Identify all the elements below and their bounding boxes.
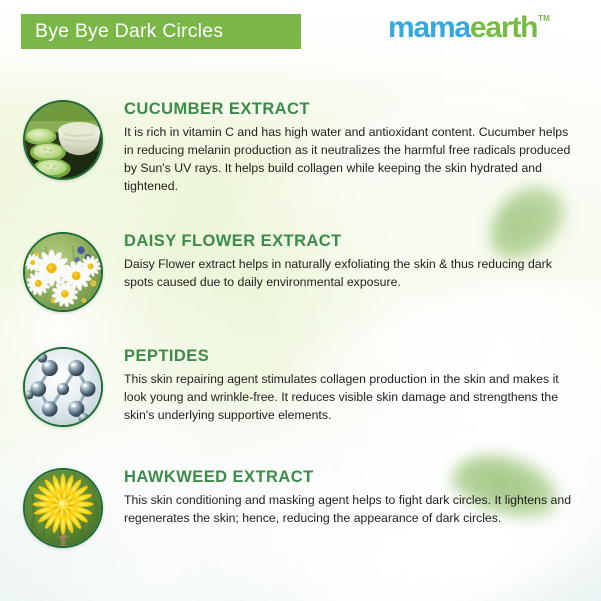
hawkweed-flower-image — [23, 468, 103, 548]
ingredient-content: PEPTIDES This skin repairing agent stimu… — [103, 347, 601, 427]
trademark-icon: TM — [538, 15, 550, 23]
brand-logo: mamaearthTM — [388, 13, 550, 43]
ingredient-description: This skin conditioning and masking agent… — [124, 491, 576, 527]
ingredient-row: HAWKWEED EXTRACT This skin conditioning … — [0, 468, 601, 548]
ingredient-title: DAISY FLOWER EXTRACT — [124, 232, 587, 250]
page-title-banner: Bye Bye Dark Circles — [21, 14, 301, 49]
molecule-structure-image — [23, 347, 103, 427]
ingredient-description: This skin repairing agent stimulates col… — [124, 370, 576, 424]
ingredient-content: DAISY FLOWER EXTRACT Daisy Flower extrac… — [103, 232, 601, 312]
brand-name-part1: mama — [388, 13, 470, 43]
ingredient-content: CUCUMBER EXTRACT It is rich in vitamin C… — [103, 100, 601, 195]
ingredient-row: CUCUMBER EXTRACT It is rich in vitamin C… — [0, 100, 601, 195]
page-header: Bye Bye Dark Circles mamaearthTM — [0, 0, 601, 62]
ingredient-title: CUCUMBER EXTRACT — [124, 100, 587, 118]
infographic-canvas: Bye Bye Dark Circles mamaearthTM — [0, 0, 601, 601]
ingredient-row: DAISY FLOWER EXTRACT Daisy Flower extrac… — [0, 232, 601, 312]
cucumber-slices-image — [23, 100, 103, 180]
ingredient-description: Daisy Flower extract helps in naturally … — [124, 255, 576, 291]
ingredient-description: It is rich in vitamin C and has high wat… — [124, 123, 576, 195]
ingredient-title: PEPTIDES — [124, 347, 587, 365]
daisy-flowers-image — [23, 232, 103, 312]
page-title: Bye Bye Dark Circles — [35, 20, 223, 43]
ingredient-title: HAWKWEED EXTRACT — [124, 468, 587, 486]
brand-name-part2: earth — [470, 13, 537, 43]
ingredient-content: HAWKWEED EXTRACT This skin conditioning … — [103, 468, 601, 548]
ingredient-row: PEPTIDES This skin repairing agent stimu… — [0, 347, 601, 427]
